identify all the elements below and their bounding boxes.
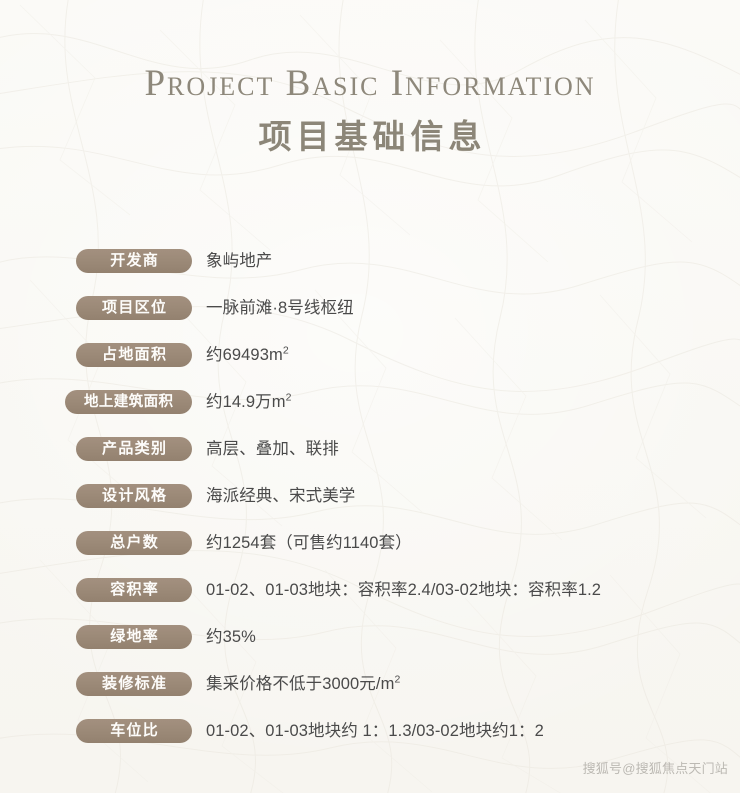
info-label-pill-background: 开发商 (76, 249, 192, 273)
info-label-pill: 装修标准 (0, 672, 192, 696)
info-row: 开发商象屿地产 (0, 249, 740, 296)
info-label-pill-background: 项目区位 (76, 296, 192, 320)
page-title-english: Project Basic Information (0, 62, 740, 106)
info-label-pill: 绿地率 (0, 625, 192, 649)
info-row: 绿地率约35% (0, 625, 740, 672)
info-value-text: 约14.9万m2 (206, 389, 292, 415)
info-row: 产品类别高层、叠加、联排 (0, 437, 740, 484)
info-label-pill-background: 绿地率 (76, 625, 192, 649)
info-value-text: 海派经典、宋式美学 (206, 483, 355, 509)
info-value-main: 高层、叠加、联排 (206, 440, 339, 458)
info-row: 装修标准集采价格不低于3000元/m2 (0, 672, 740, 719)
info-label-pill: 产品类别 (0, 437, 192, 461)
info-row: 总户数约1254套（可售约1140套） (0, 531, 740, 578)
info-row: 占地面积约69493m2 (0, 343, 740, 390)
info-label-text: 地上建筑面积 (84, 390, 174, 414)
info-label-pill: 总户数 (0, 531, 192, 555)
info-value-main: 01-02、01-03地块约 1：1.3/03-02地块约1：2 (206, 722, 544, 740)
info-row: 项目区位一脉前滩·8号线枢纽 (0, 296, 740, 343)
info-value-main: 约35% (206, 628, 256, 646)
info-label-pill: 开发商 (0, 249, 192, 273)
info-label-pill: 地上建筑面积 (0, 390, 192, 414)
info-value-text: 一脉前滩·8号线枢纽 (206, 295, 354, 321)
page-title-chinese: 项目基础信息 (0, 118, 740, 158)
info-value-superscript: 2 (394, 674, 400, 686)
info-value-main: 约14.9万m (206, 393, 286, 411)
info-row: 容积率01-02、01-03地块：容积率2.4/03-02地块：容积率1.2 (0, 578, 740, 625)
info-label-pill: 设计风格 (0, 484, 192, 508)
watermark: 搜狐号@搜狐焦点天门站 (583, 758, 728, 777)
info-value-text: 约35% (206, 624, 256, 650)
page-header: Project Basic Information 项目基础信息 (0, 62, 740, 158)
info-value-text: 约1254套（可售约1140套） (206, 530, 412, 556)
info-value-text: 01-02、01-03地块约 1：1.3/03-02地块约1：2 (206, 718, 544, 744)
info-label-pill: 车位比 (0, 719, 192, 743)
info-label-text: 绿地率 (109, 625, 159, 649)
info-label-text: 项目区位 (101, 296, 168, 320)
info-label-pill-background: 车位比 (76, 719, 192, 743)
info-value-main: 一脉前滩·8号线枢纽 (206, 299, 354, 317)
info-value-main: 集采价格不低于3000元/m (206, 675, 394, 693)
info-label-pill-background: 设计风格 (76, 484, 192, 508)
info-value-main: 约1254套（可售约1140套） (206, 534, 412, 552)
info-label-text: 开发商 (109, 249, 159, 273)
info-label-pill-background: 总户数 (76, 531, 192, 555)
info-label-text: 车位比 (109, 719, 159, 743)
info-value-text: 约69493m2 (206, 342, 289, 368)
info-label-text: 装修标准 (101, 672, 168, 696)
info-value-superscript: 2 (283, 345, 289, 357)
info-label-pill-background: 产品类别 (76, 437, 192, 461)
info-label-pill-background: 占地面积 (76, 343, 192, 367)
info-row: 地上建筑面积约14.9万m2 (0, 390, 740, 437)
info-label-text: 占地面积 (101, 343, 168, 367)
info-label-pill: 项目区位 (0, 296, 192, 320)
info-label-text: 总户数 (109, 531, 159, 555)
info-label-text: 产品类别 (101, 437, 168, 461)
info-row: 设计风格海派经典、宋式美学 (0, 484, 740, 531)
info-label-text: 容积率 (109, 578, 159, 602)
info-value-main: 01-02、01-03地块：容积率2.4/03-02地块：容积率1.2 (206, 581, 601, 599)
info-label-pill: 占地面积 (0, 343, 192, 367)
project-info-table: 开发商象屿地产项目区位一脉前滩·8号线枢纽占地面积约69493m2地上建筑面积约… (0, 249, 740, 766)
info-value-text: 集采价格不低于3000元/m2 (206, 671, 400, 697)
info-label-pill-background: 容积率 (76, 578, 192, 602)
info-label-pill: 容积率 (0, 578, 192, 602)
info-value-text: 象屿地产 (206, 248, 272, 274)
info-value-text: 01-02、01-03地块：容积率2.4/03-02地块：容积率1.2 (206, 577, 601, 603)
info-value-main: 约69493m (206, 346, 283, 364)
info-value-text: 高层、叠加、联排 (206, 436, 339, 462)
info-value-main: 海派经典、宋式美学 (206, 487, 355, 505)
info-value-main: 象屿地产 (206, 252, 272, 270)
info-label-pill-background: 装修标准 (76, 672, 192, 696)
info-label-pill-background: 地上建筑面积 (65, 390, 192, 414)
page-root: Project Basic Information 项目基础信息 开发商象屿地产… (0, 0, 740, 793)
info-value-superscript: 2 (286, 392, 292, 404)
info-label-text: 设计风格 (101, 484, 168, 508)
